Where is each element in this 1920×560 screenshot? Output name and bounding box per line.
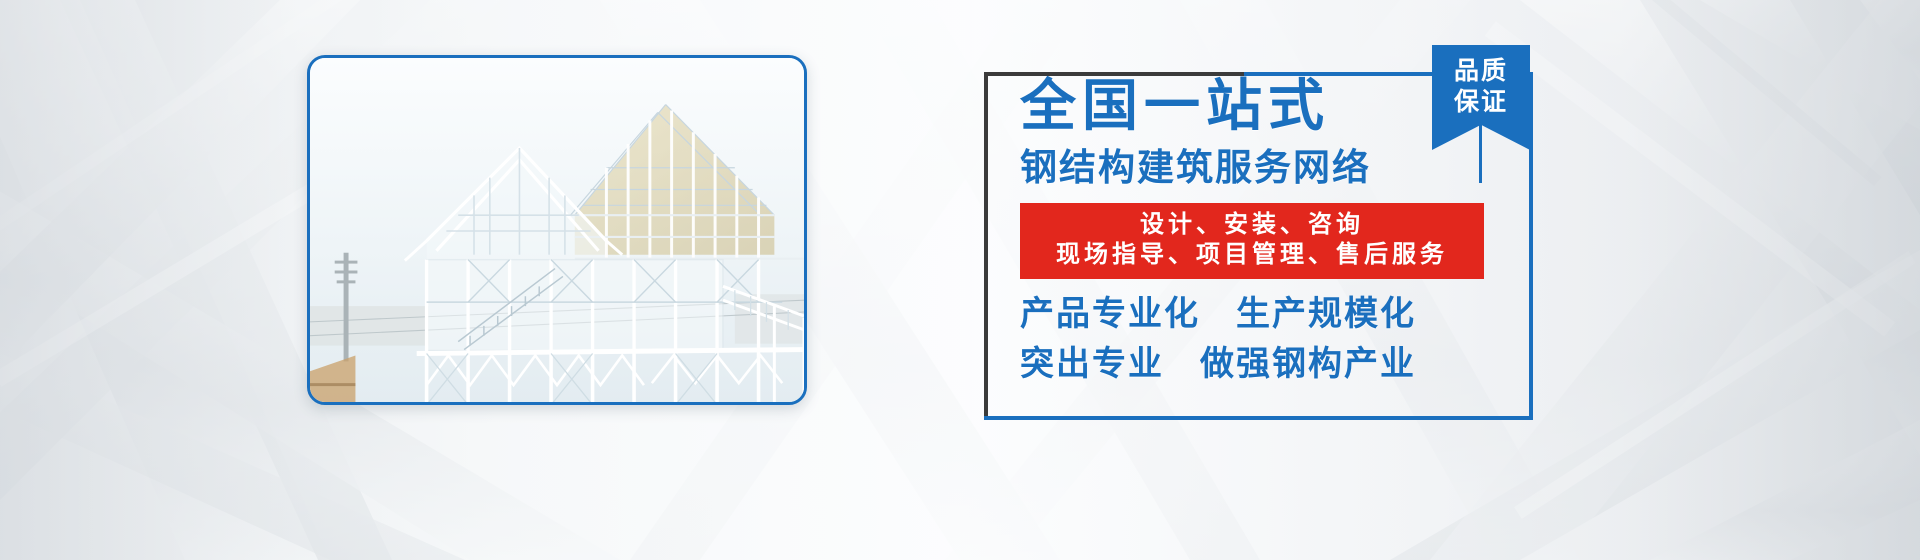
background-overlay	[0, 0, 1920, 560]
services-line-2: 现场指导、项目管理、售后服务	[1020, 240, 1484, 270]
headline-primary: 全国一站式	[1020, 76, 1330, 136]
promotional-banner: 全国一站式 钢结构建筑服务网络 设计、安装、咨询 现场指导、项目管理、售后服务 …	[0, 0, 1920, 560]
headline-secondary: 钢结构建筑服务网络	[1020, 148, 1371, 189]
slogan-line-1: 产品专业化 生产规模化	[1020, 290, 1416, 338]
quality-assurance-badge: 品质 保证	[1432, 45, 1530, 150]
badge-tail	[1479, 123, 1482, 183]
frame-border-left	[984, 72, 988, 420]
badge-line-1: 品质	[1432, 56, 1530, 87]
services-line-1: 设计、安装、咨询	[1020, 210, 1484, 240]
slogan-line-2: 突出专业 做强钢构产业	[1020, 340, 1416, 388]
services-callout-box: 设计、安装、咨询 现场指导、项目管理、售后服务	[1020, 203, 1484, 279]
steel-house-photo	[307, 55, 807, 405]
badge-line-2: 保证	[1432, 87, 1530, 118]
badge-text: 品质 保证	[1432, 45, 1530, 119]
